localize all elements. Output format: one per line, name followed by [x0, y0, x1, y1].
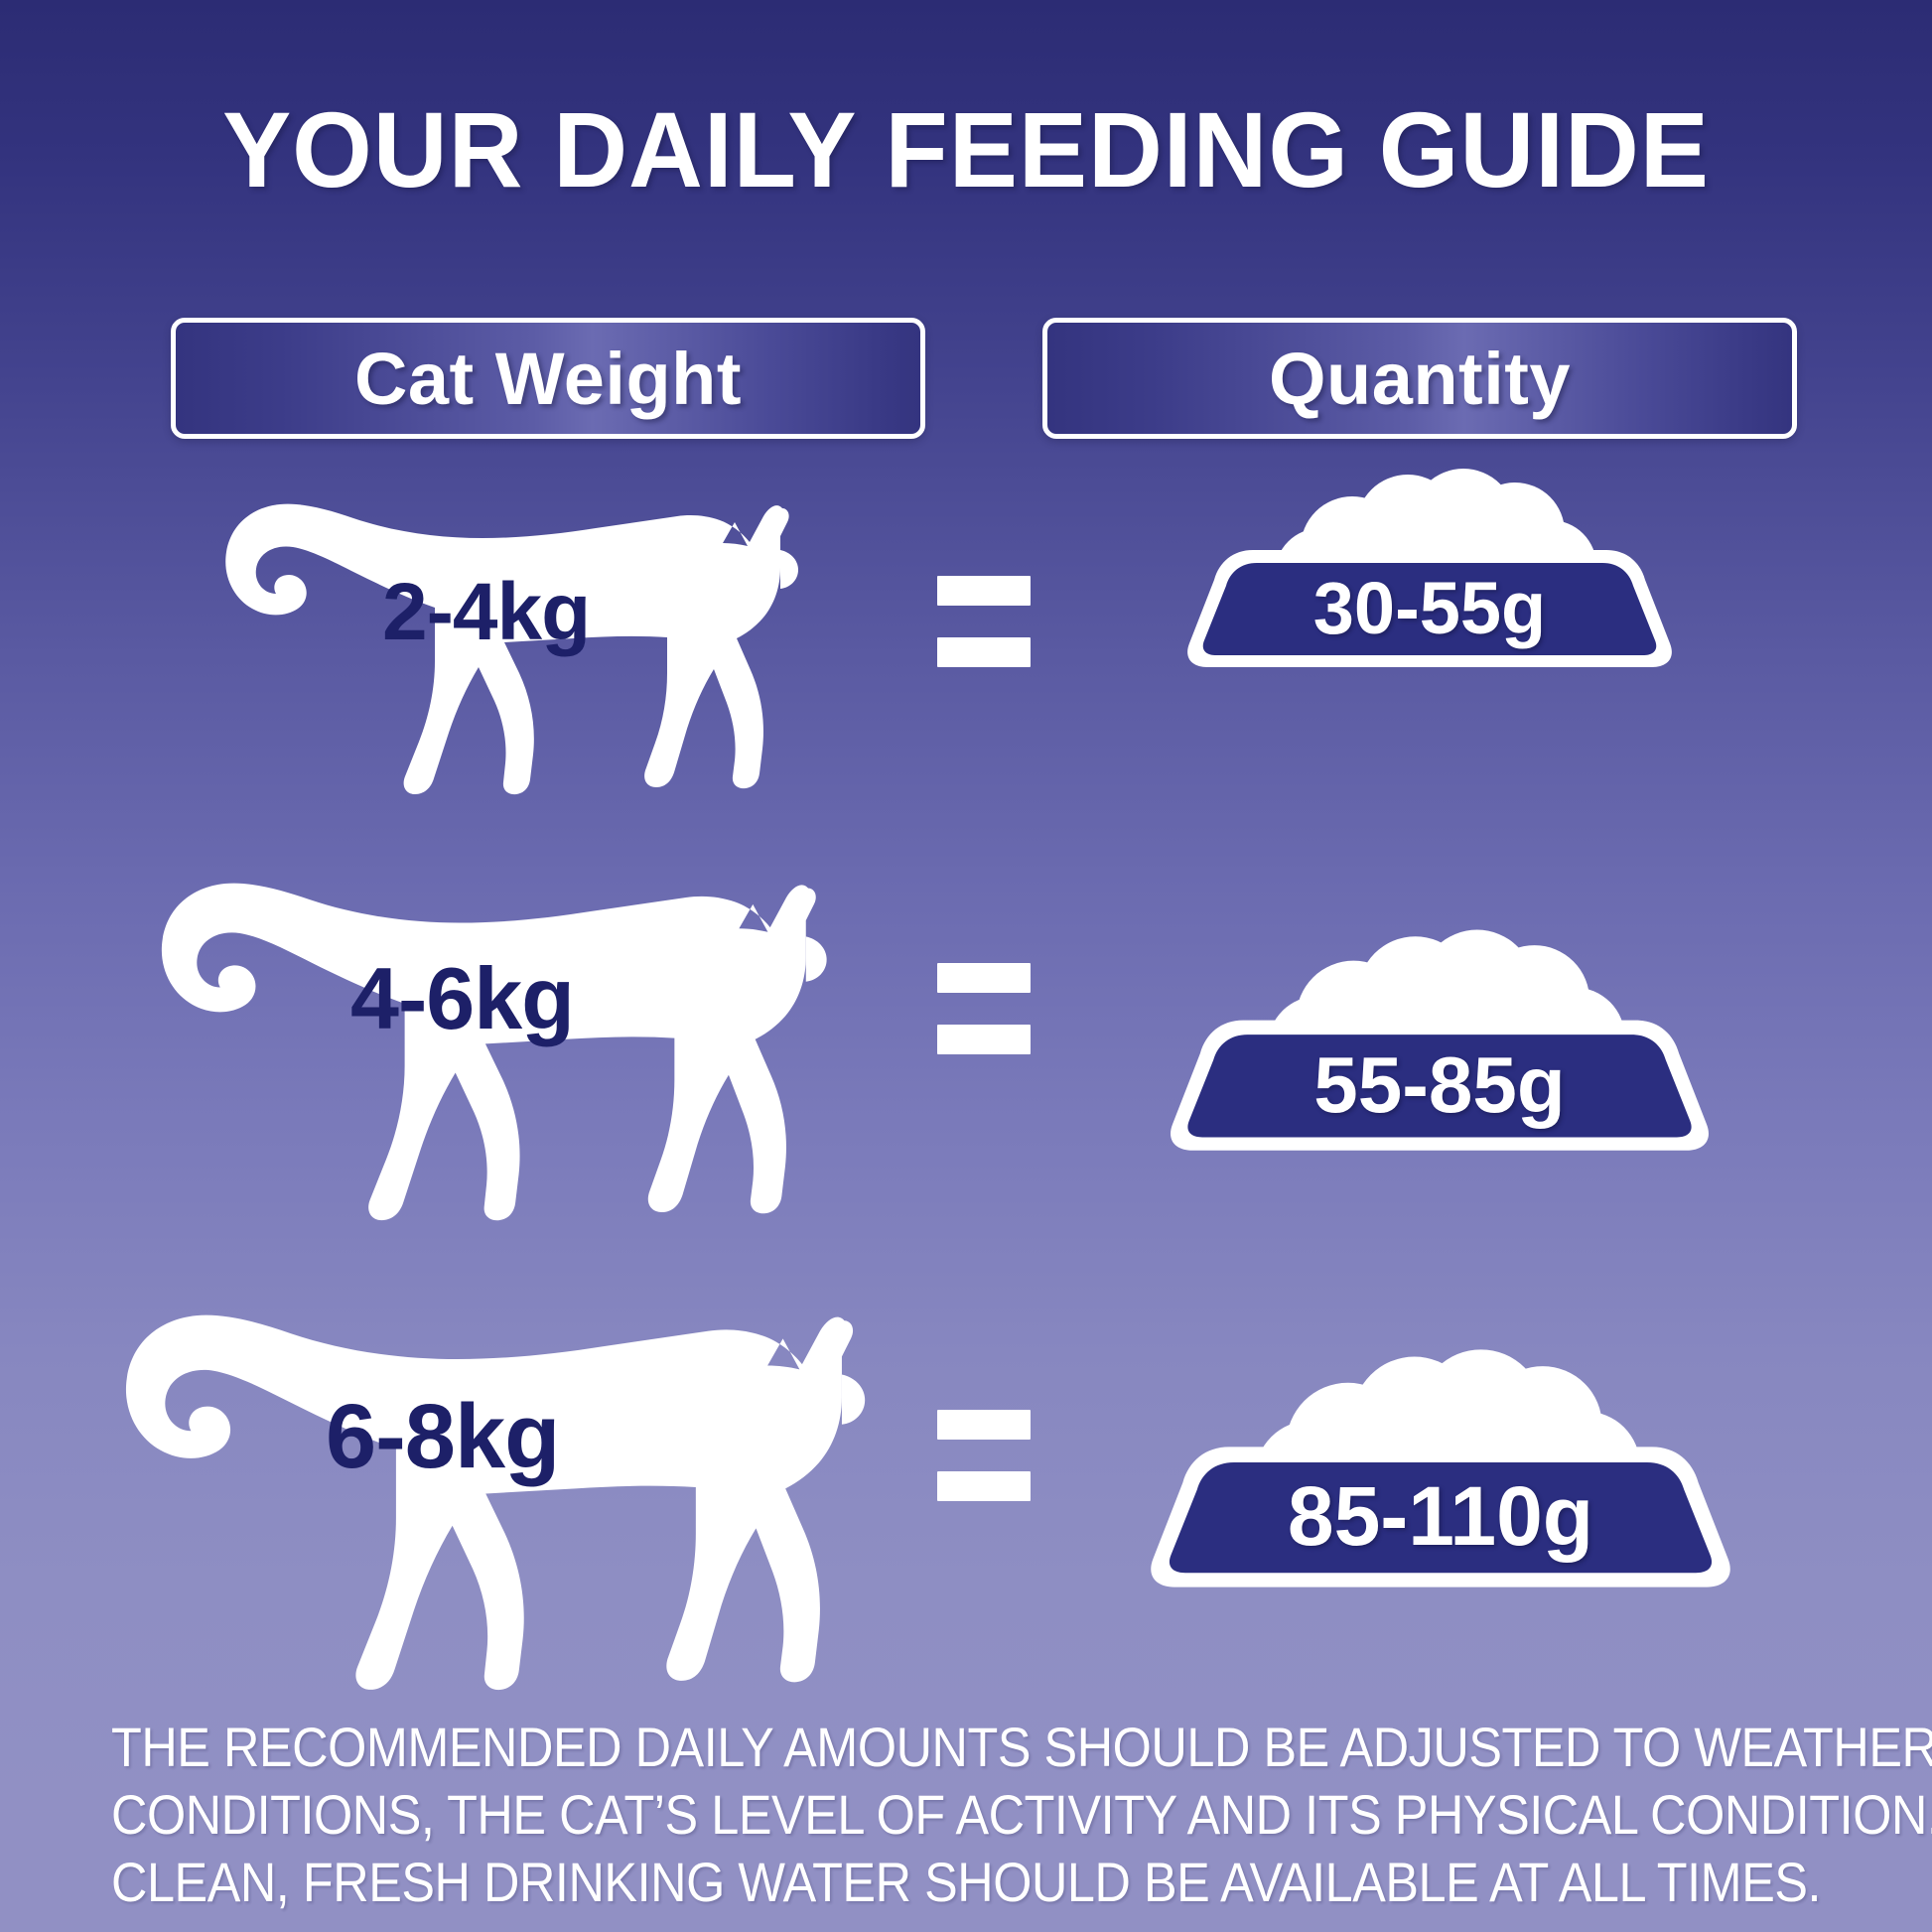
column-header-cat-weight-label: Cat Weight: [354, 337, 742, 421]
disclaimer-line-2: CONDITIONS, THE CAT’S LEVEL OF ACTIVITY …: [111, 1781, 1684, 1849]
equals-bar-top: [937, 576, 1031, 606]
quantity-value: 30-55g: [1162, 566, 1698, 650]
equals-bar-bottom: [937, 637, 1031, 667]
equals-bar-top: [937, 1410, 1031, 1440]
disclaimer-line-3: CLEAN, FRESH DRINKING WATER SHOULD BE AV…: [111, 1849, 1684, 1916]
food-bowl-icon: 85-110g: [1120, 1313, 1761, 1587]
column-header-quantity-label: Quantity: [1269, 337, 1571, 421]
equals-bar-top: [937, 963, 1031, 993]
cat-walking-icon: 4-6kg: [107, 839, 822, 1221]
equals-bar-bottom: [937, 1471, 1031, 1501]
cat-weight-value: 6-8kg: [326, 1385, 559, 1489]
feeding-row: 2-4kg 30-55g: [0, 467, 1932, 794]
quantity-value: 55-85g: [1142, 1039, 1737, 1131]
equals-icon: [937, 576, 1031, 667]
feeding-row: 6-8kg 85-110g: [0, 1266, 1932, 1693]
cat-walking-icon: 6-8kg: [66, 1266, 860, 1691]
column-header-quantity: Quantity: [1042, 318, 1797, 439]
cat-weight-value: 4-6kg: [350, 948, 574, 1049]
equals-icon: [937, 1410, 1031, 1501]
disclaimer-line-1: THE RECOMMENDED DAILY AMOUNTS SHOULD BE …: [111, 1714, 1684, 1781]
feeding-guide-infographic: YOUR DAILY FEEDING GUIDE Cat Weight Quan…: [0, 0, 1932, 1932]
equals-icon: [937, 963, 1031, 1054]
column-header-cat-weight: Cat Weight: [171, 318, 925, 439]
food-bowl-icon: 30-55g: [1162, 439, 1698, 667]
equals-bar-bottom: [937, 1025, 1031, 1054]
food-bowl-icon: 55-85g: [1142, 897, 1737, 1151]
disclaimer-text: THE RECOMMENDED DAILY AMOUNTS SHOULD BE …: [111, 1714, 1684, 1916]
page-title: YOUR DAILY FEEDING GUIDE: [39, 87, 1893, 211]
cat-walking-icon: 2-4kg: [179, 467, 794, 794]
feeding-row: 4-6kg 55-85g: [0, 839, 1932, 1226]
quantity-value: 85-110g: [1120, 1468, 1761, 1565]
cat-weight-value: 2-4kg: [382, 566, 590, 659]
